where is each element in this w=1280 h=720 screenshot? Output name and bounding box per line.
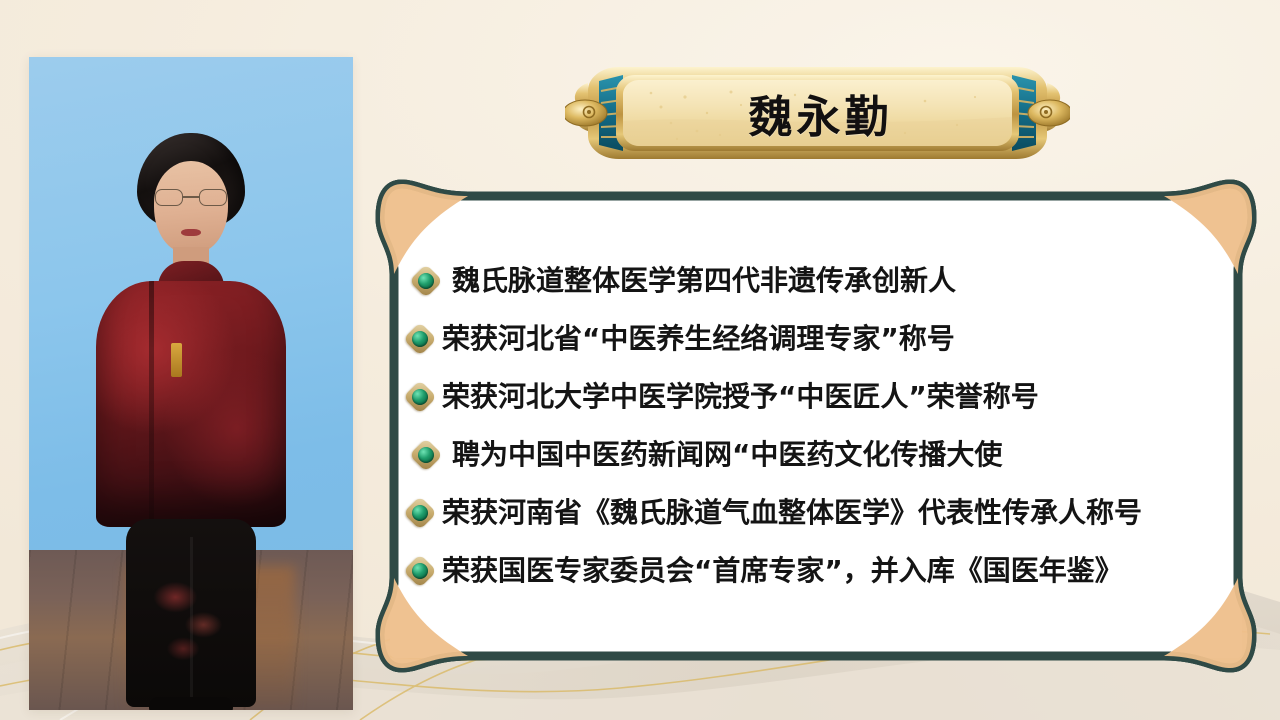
- list-item: 聘为中国中医药新闻网“中医药文化传播大使: [398, 426, 1238, 484]
- green-gem-bullet-icon: [406, 499, 434, 527]
- list-item-label: 荣获国医专家委员会“首席专家”，并入库《国医年鉴》: [442, 555, 1123, 587]
- list-item: 荣获河北大学中医学院授予“中医匠人”荣誉称号: [398, 368, 1238, 426]
- content-panel: 魏氏脉道整体医学第四代非遗传承创新人 荣获河北省“中医养生经络调理专家”称号 荣…: [372, 174, 1260, 678]
- figure-jacket: [96, 281, 286, 527]
- figure-face: [154, 161, 228, 253]
- slide-root: 魏永勤: [0, 0, 1280, 720]
- list-item: 荣获河南省《魏氏脉道气血整体医学》代表性传承人称号: [398, 484, 1238, 542]
- green-gem-bullet-icon: [406, 325, 434, 353]
- bullet-list: 魏氏脉道整体医学第四代非遗传承创新人 荣获河北省“中医养生经络调理专家”称号 荣…: [398, 210, 1238, 642]
- portrait-figure: [29, 57, 353, 710]
- title-banner: 魏永勤: [565, 57, 1070, 169]
- list-item: 荣获国医专家委员会“首席专家”，并入库《国医年鉴》: [398, 542, 1238, 600]
- green-gem-bullet-icon: [406, 557, 434, 585]
- green-gem-bullet-icon: [412, 441, 440, 469]
- figure-mouth: [181, 229, 201, 236]
- figure-pendant: [171, 343, 182, 377]
- list-item-label: 荣获河南省《魏氏脉道气血整体医学》代表性传承人称号: [442, 497, 1142, 529]
- list-item: 荣获河北省“中医养生经络调理专家”称号: [398, 310, 1238, 368]
- list-item-label: 荣获河北大学中医学院授予“中医匠人”荣誉称号: [442, 381, 1039, 413]
- list-item-label: 魏氏脉道整体医学第四代非遗传承创新人: [448, 265, 956, 297]
- list-item: 魏氏脉道整体医学第四代非遗传承创新人: [398, 252, 1238, 310]
- list-item-label: 聘为中国中医药新闻网“中医药文化传播大使: [448, 439, 1002, 471]
- list-item-label: 荣获河北省“中医养生经络调理专家”称号: [442, 323, 955, 355]
- figure-embroidery: [152, 577, 230, 669]
- figure-shoes: [149, 697, 233, 710]
- green-gem-bullet-icon: [406, 383, 434, 411]
- page-title: 魏永勤: [565, 57, 1070, 169]
- portrait-photo: [29, 57, 353, 710]
- glasses-icon: [155, 189, 227, 206]
- green-gem-bullet-icon: [412, 267, 440, 295]
